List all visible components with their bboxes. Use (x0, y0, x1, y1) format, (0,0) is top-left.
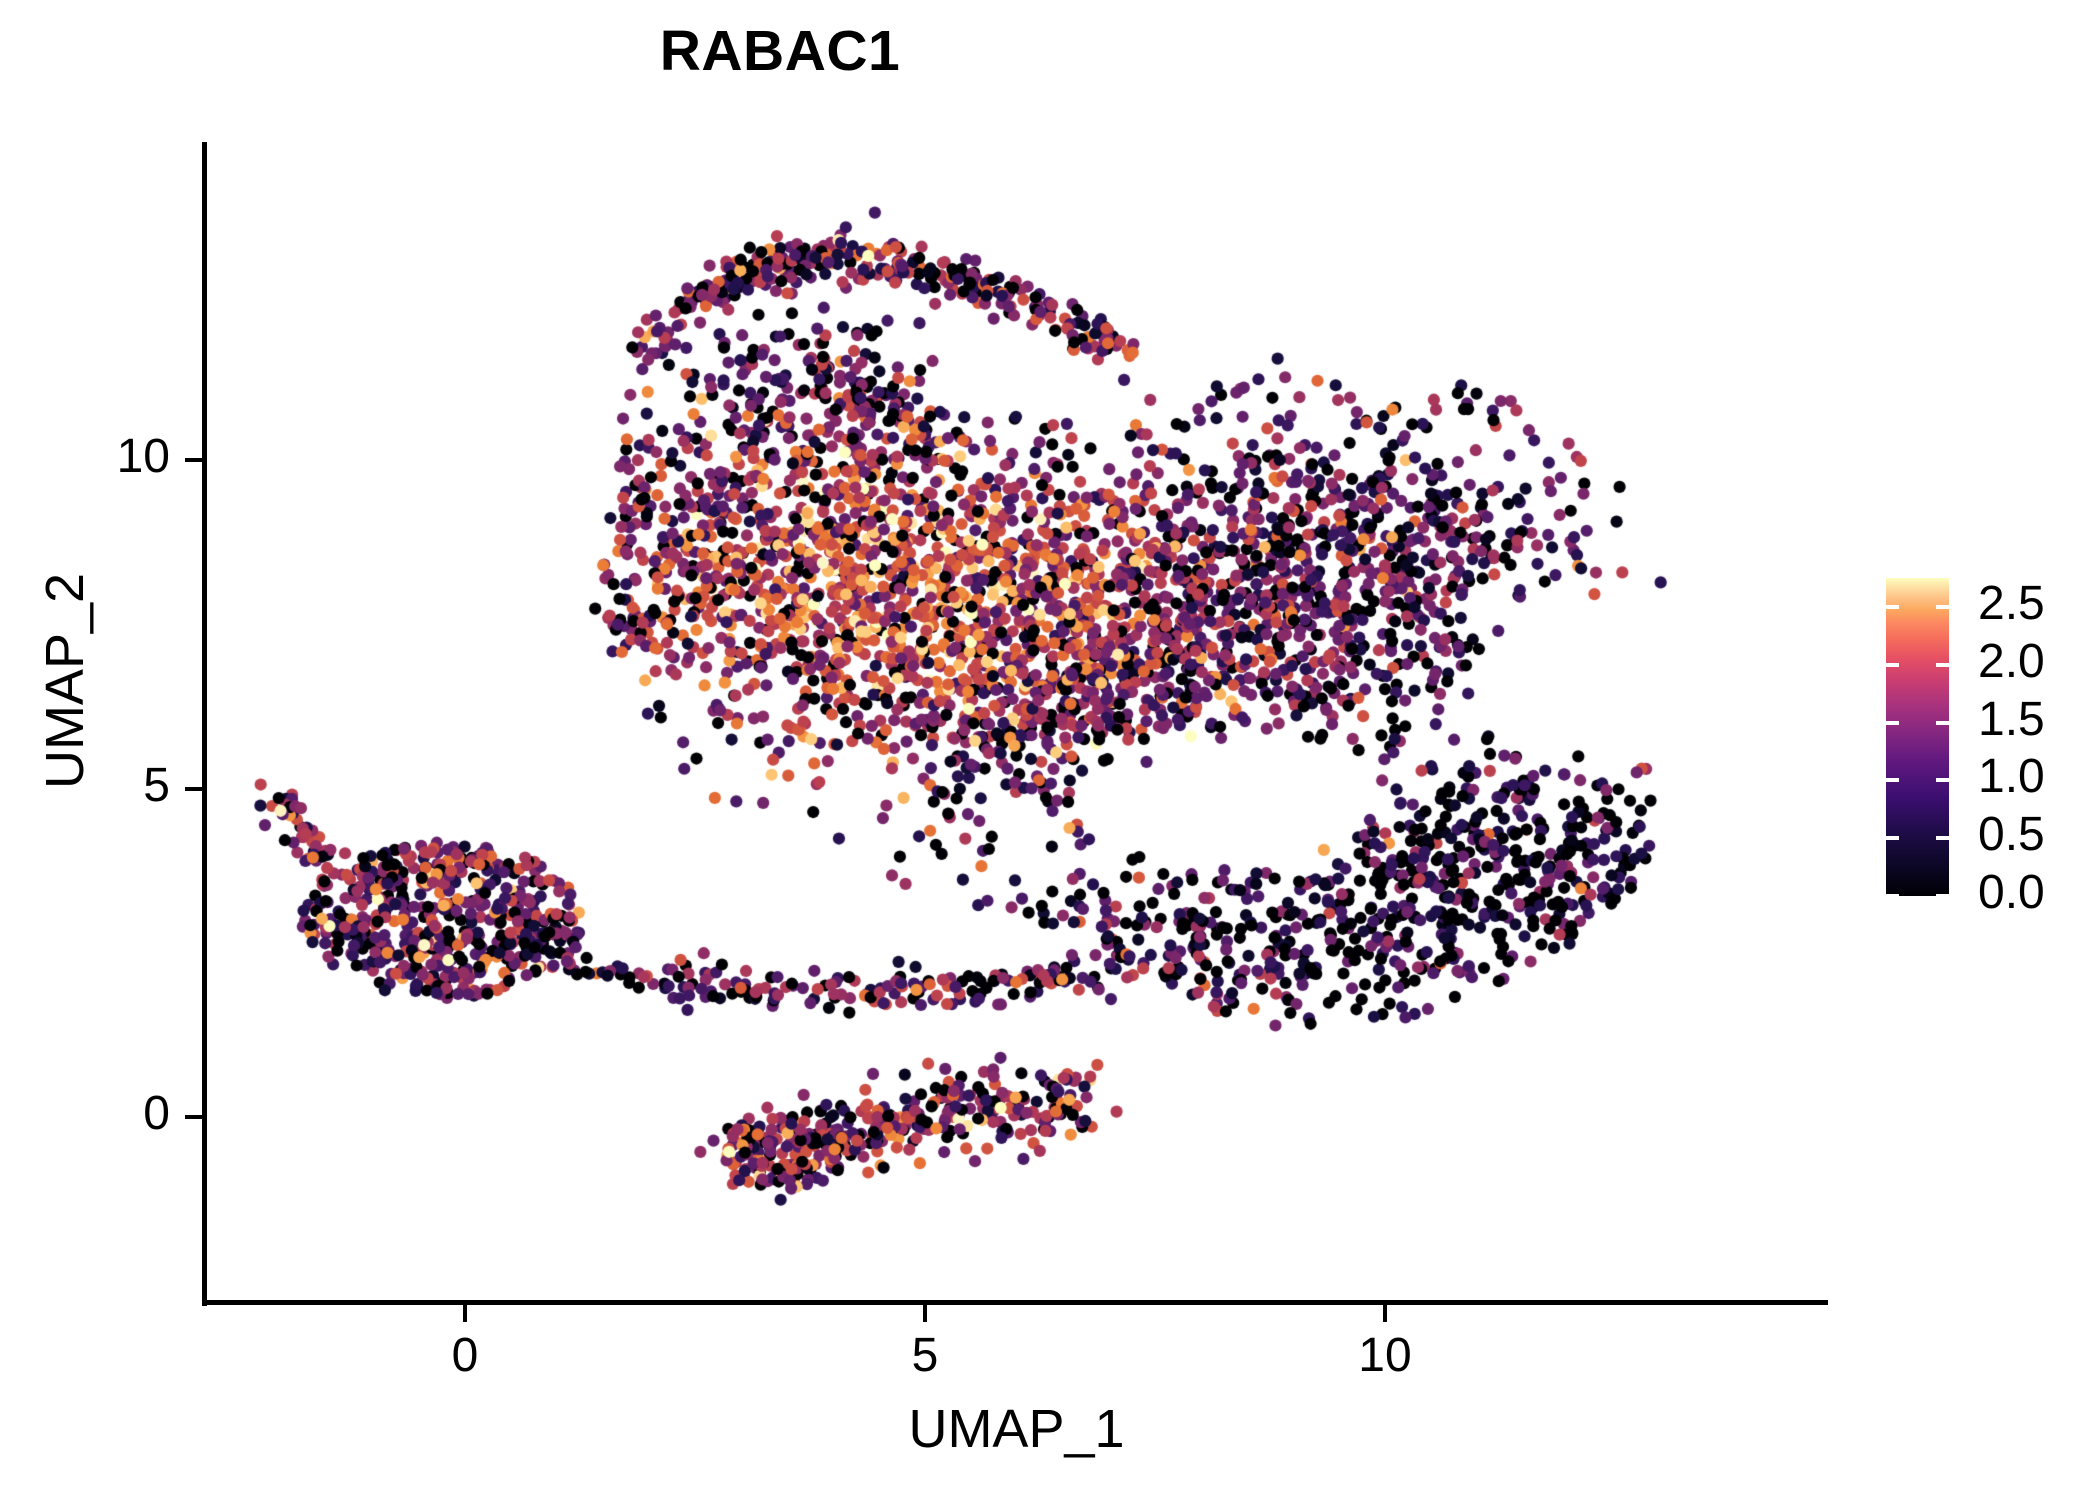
colorbar-tick-mark (1886, 778, 1899, 782)
colorbar-tick-label: 0.5 (1978, 807, 2045, 862)
x-tick-mark (1383, 1305, 1387, 1322)
colorbar-tick-label: 0.0 (1978, 865, 2045, 920)
colorbar-tick-label: 2.0 (1978, 634, 2045, 689)
colorbar-tick-mark (1886, 721, 1899, 725)
colorbar-tick-mark (1936, 778, 1949, 782)
y-tick-mark (185, 1115, 202, 1119)
y-axis-title: UMAP_2 (34, 321, 96, 1041)
colorbar-tick-mark (1936, 836, 1949, 840)
colorbar-tick-label: 1.0 (1978, 749, 2045, 804)
x-tick-label: 5 (845, 1328, 1005, 1383)
x-axis-title: UMAP_1 (205, 1398, 1828, 1460)
y-tick-label: 0 (0, 1086, 170, 1141)
x-tick-mark (923, 1305, 927, 1322)
colorbar-tick-mark (1936, 605, 1949, 609)
colorbar-tick-mark (1936, 721, 1949, 725)
x-tick-label: 10 (1305, 1328, 1465, 1383)
colorbar-gradient (1886, 578, 1949, 896)
colorbar-tick-mark (1886, 605, 1899, 609)
y-axis-line (202, 142, 207, 1306)
x-tick-label: 0 (385, 1328, 545, 1383)
y-tick-mark (185, 787, 202, 791)
colorbar-tick-mark (1886, 836, 1899, 840)
colorbar-tick-mark (1886, 663, 1899, 667)
scatter-plot-canvas (0, 0, 2100, 1500)
x-tick-mark (463, 1305, 467, 1322)
figure-root: RABAC1 0510 0510 UMAP_1 UMAP_2 2.52.01.5… (0, 0, 2100, 1500)
color-legend: 2.52.01.51.00.50.0 (1886, 578, 2086, 898)
colorbar-tick-mark (1886, 894, 1899, 898)
colorbar-tick-label: 2.5 (1978, 576, 2045, 631)
page-title: RABAC1 (0, 22, 1560, 82)
colorbar-tick-label: 1.5 (1978, 692, 2045, 747)
x-axis-line (205, 1300, 1828, 1305)
colorbar-tick-mark (1936, 663, 1949, 667)
y-tick-mark (185, 458, 202, 462)
colorbar-tick-mark (1936, 894, 1949, 898)
